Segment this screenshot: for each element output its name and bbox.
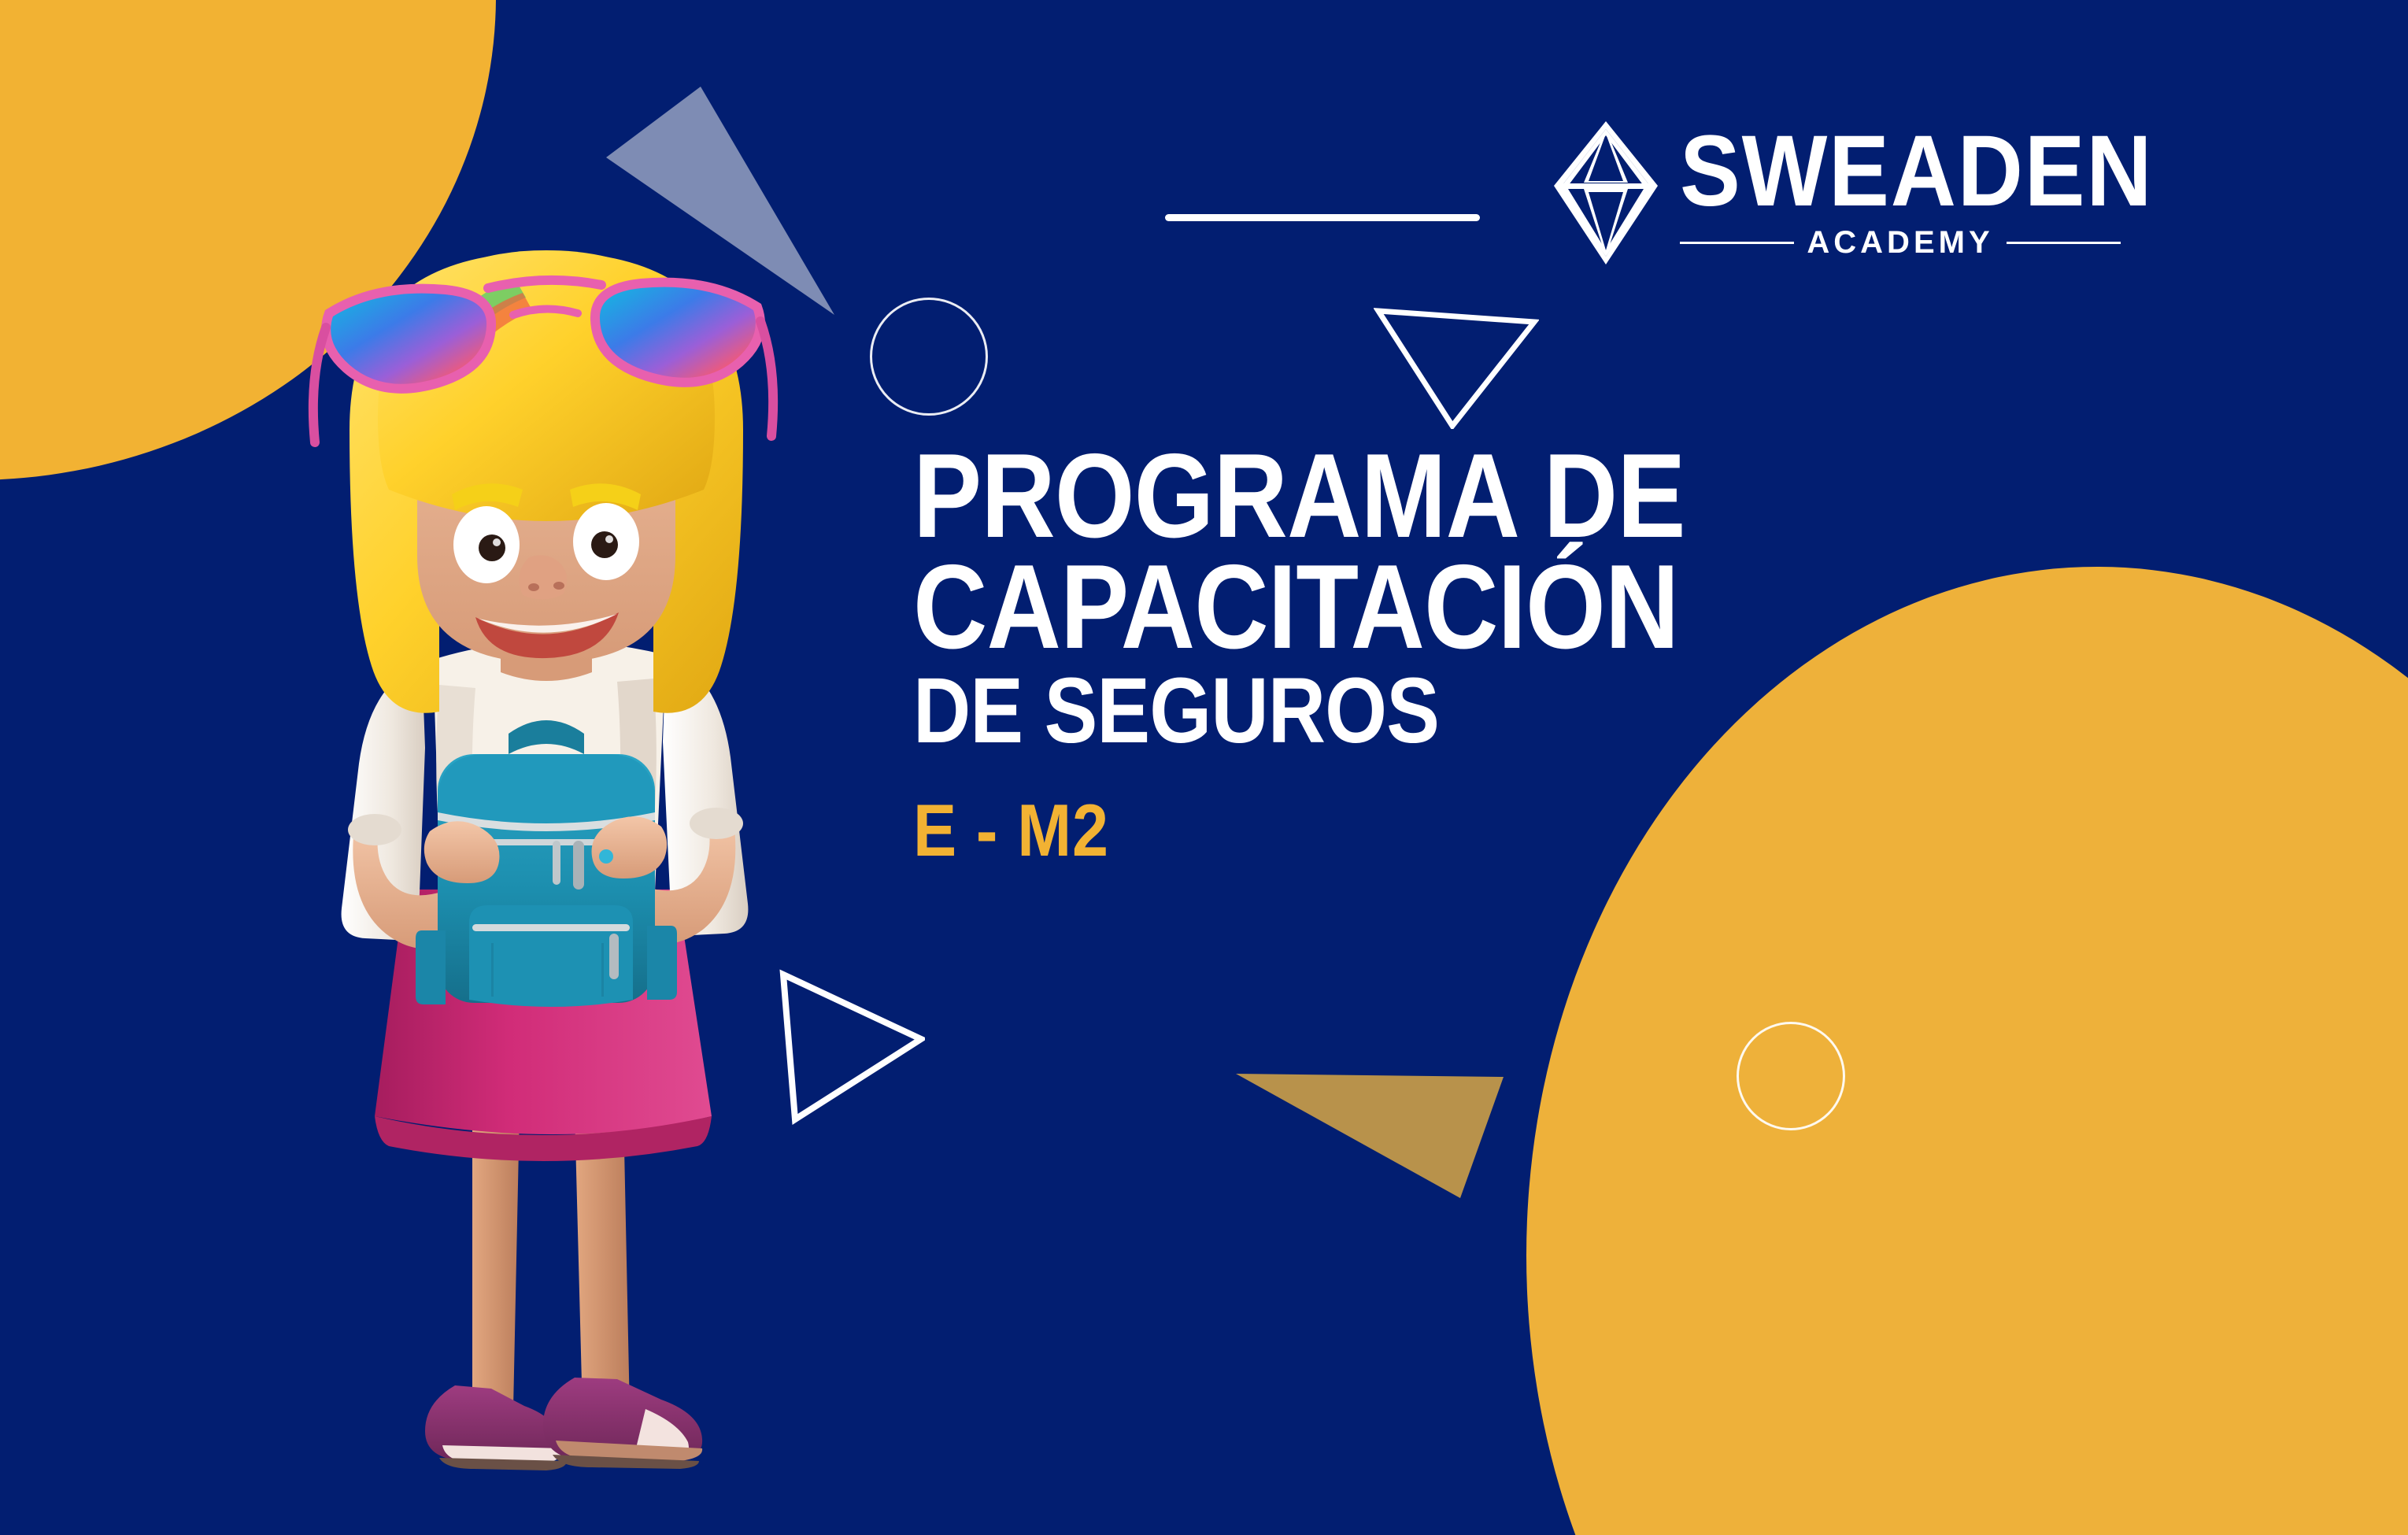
- headline-line-2: CAPACITACIÓN: [913, 553, 1929, 661]
- brand-subtitle-line-right: [2007, 242, 2121, 244]
- brand-subtitle: ACADEMY: [1807, 225, 1993, 261]
- triangle-outline-down: [1374, 303, 1539, 429]
- diamond-gem-icon: [1551, 118, 1661, 268]
- headline-block: PROGRAMA DE CAPACITACIÓN DE SEGUROS E - …: [913, 442, 2094, 867]
- character-illustration: [236, 181, 850, 1535]
- headline-line-3: DE SEGUROS: [913, 669, 1929, 753]
- course-code: E - M2: [913, 793, 1952, 867]
- brand-subtitle-line-left: [1680, 242, 1794, 244]
- brand-name: SWEADEN: [1680, 125, 2153, 218]
- headline-line-1: PROGRAMA DE: [913, 442, 1929, 550]
- brand-lockup: SWEADEN ACADEMY: [1165, 118, 2206, 268]
- poster-canvas: SWEADEN ACADEMY PROGRAMA DE CAPACITACIÓN…: [0, 0, 2408, 1535]
- brand-wordmark: SWEADEN ACADEMY: [1680, 125, 2206, 261]
- brand-rule-icon: [1165, 214, 1480, 221]
- circle-outline-upper: [870, 298, 988, 416]
- brand-subtitle-row: ACADEMY: [1680, 225, 2121, 261]
- shoes: [425, 1378, 702, 1470]
- circle-outline-lower: [1737, 1022, 1845, 1130]
- triangle-gold: [1236, 1071, 1504, 1212]
